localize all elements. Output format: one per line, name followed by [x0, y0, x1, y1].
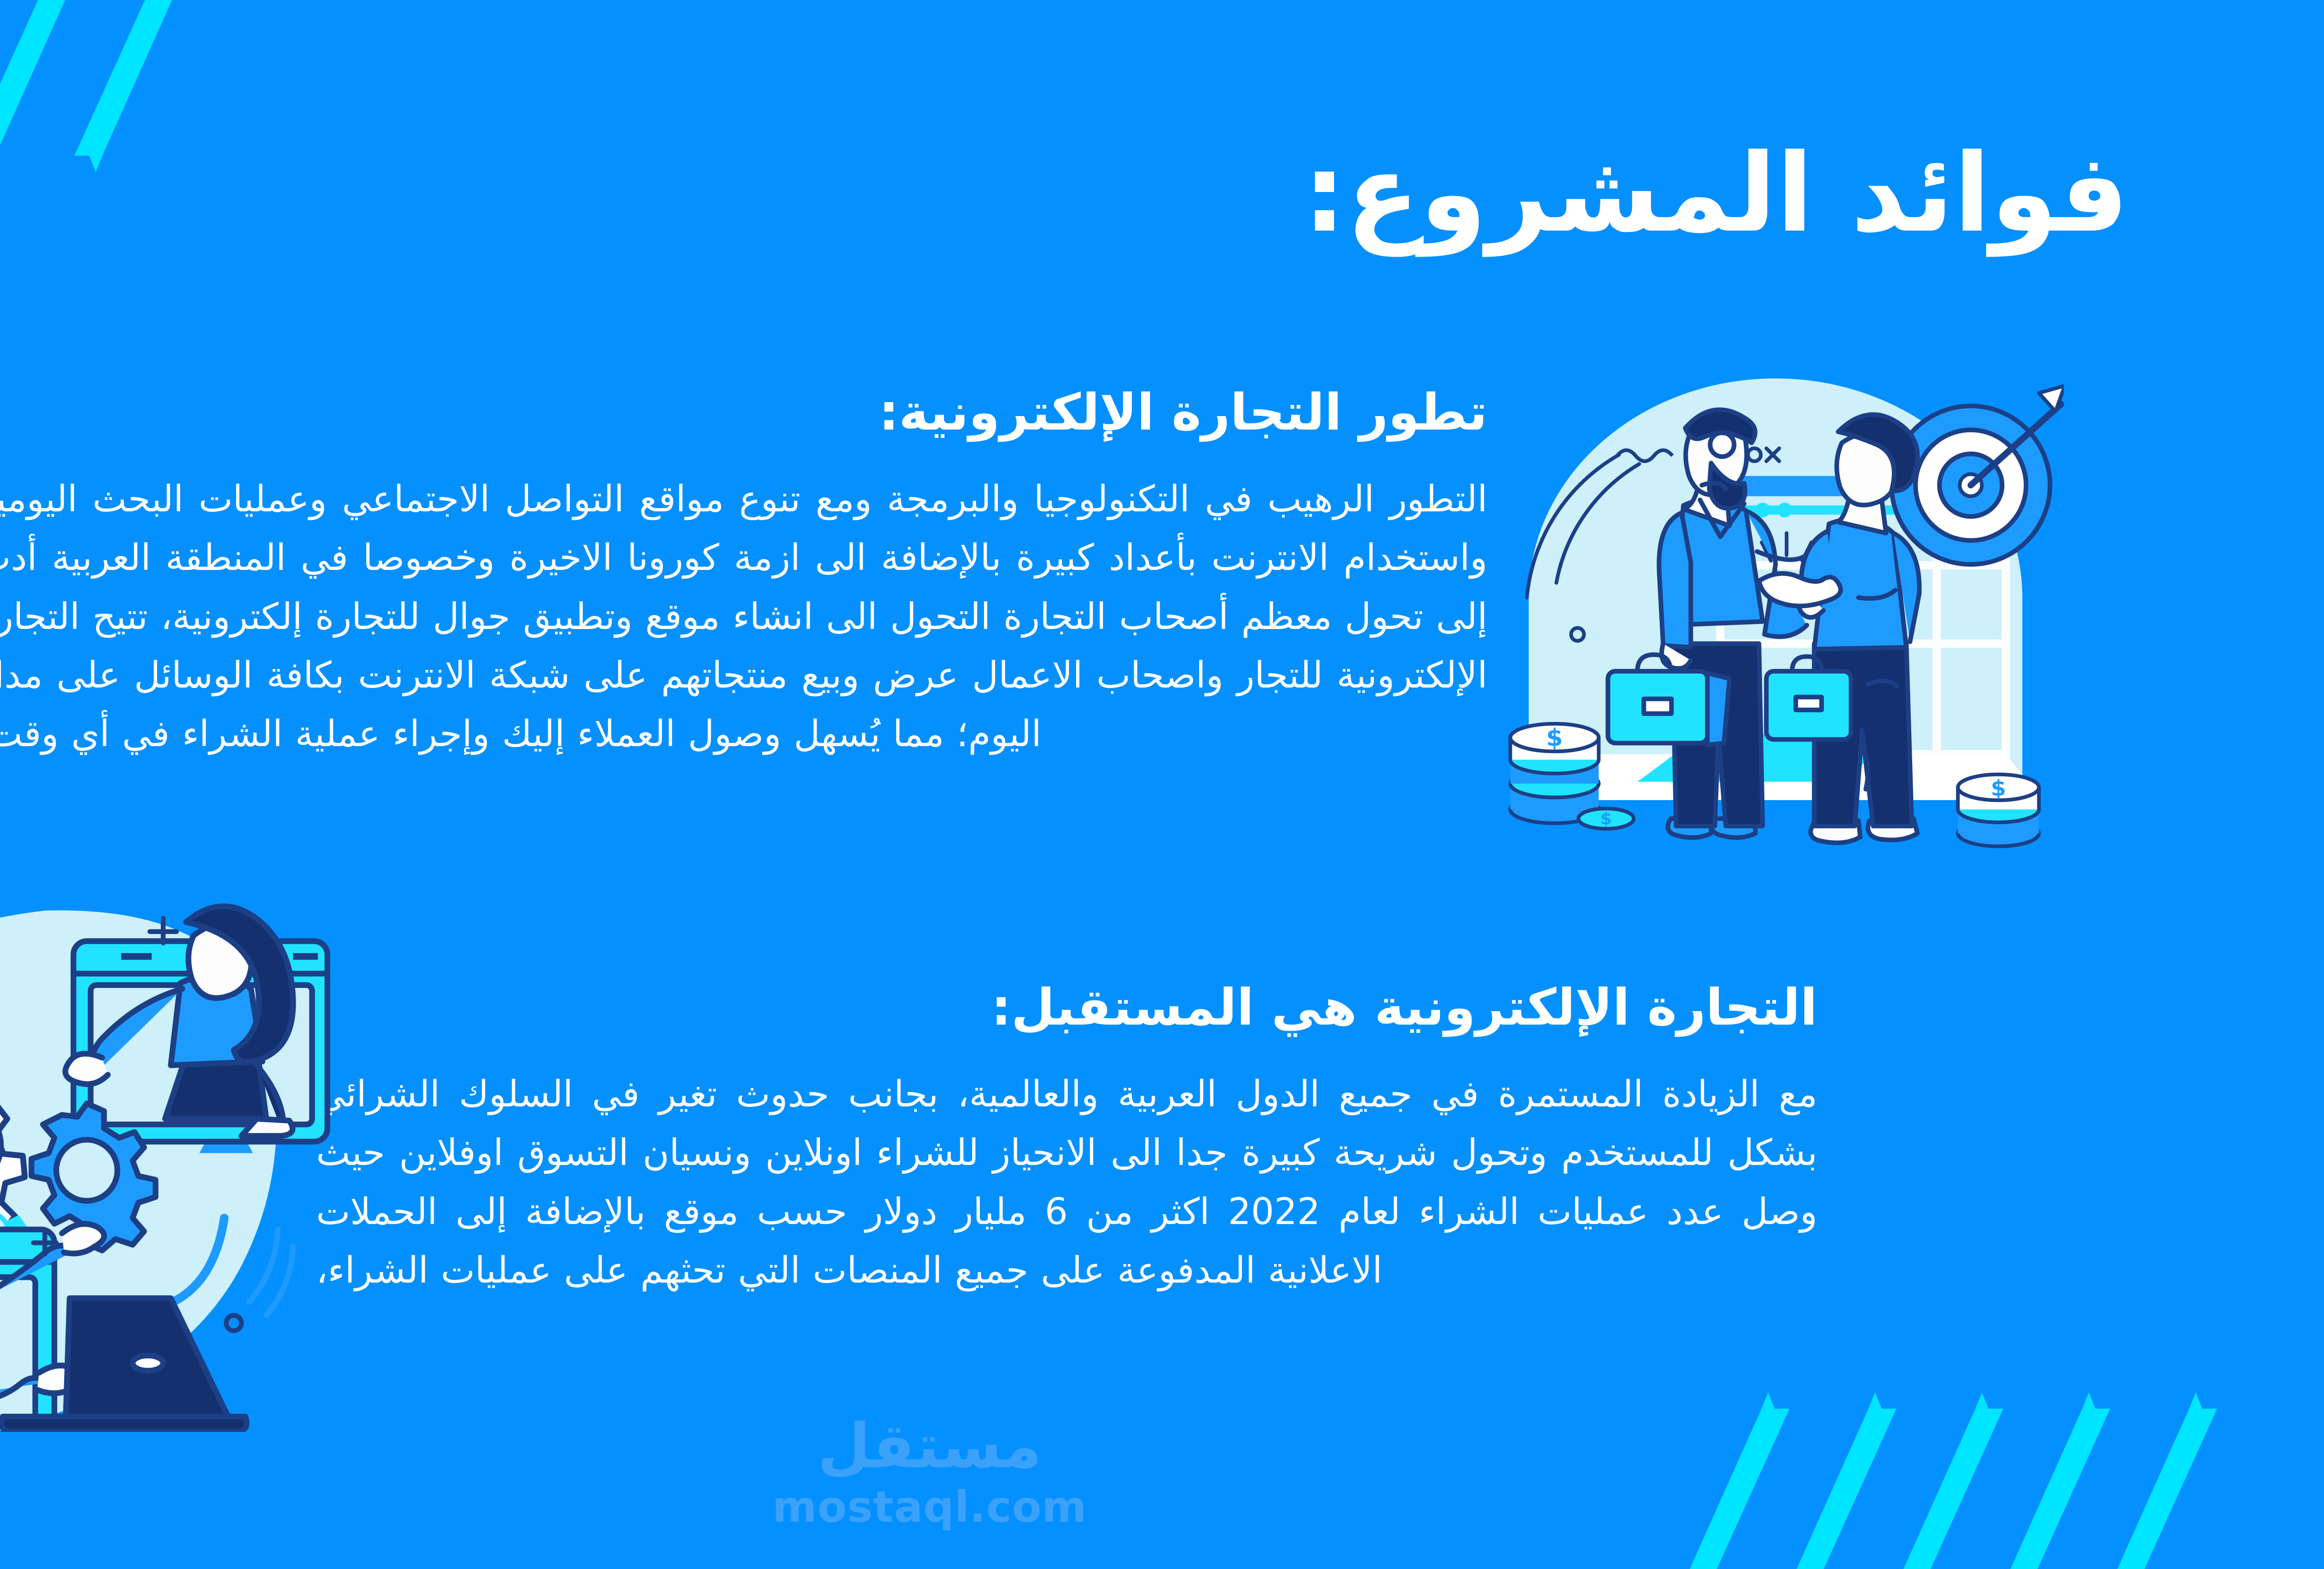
section-ecommerce-evolution: تطور التجارة الإلكترونية: التطور الرهيب … — [0, 381, 1487, 764]
section-body-2: مع الزيادة المستمرة في جميع الدول العربي… — [316, 1065, 1817, 1300]
watermark-domain: mostaql.com — [772, 1482, 1087, 1533]
gears-collaboration-illustration — [0, 897, 344, 1432]
slide-canvas: فوائد المشروع: تطور التجارة الإلكترونية:… — [0, 0, 2324, 1569]
section-heading-2: التجارة الإلكترونية هي المستقبل: — [316, 976, 1817, 1039]
watermark-arabic-logo: مستقل — [772, 1416, 1087, 1477]
svg-text:$: $ — [1600, 809, 1612, 828]
svg-text:$: $ — [1991, 775, 2006, 801]
decorative-stripes-bottom-right — [1557, 1383, 2324, 1569]
mostaql-watermark: مستقل mostaql.com — [772, 1416, 1087, 1533]
section-heading-1: تطور التجارة الإلكترونية: — [0, 381, 1487, 444]
decorative-stripes-top-left — [0, 0, 232, 191]
svg-text:$: $ — [1546, 724, 1563, 752]
section-ecommerce-future: التجارة الإلكترونية هي المستقبل: مع الزي… — [316, 976, 1817, 1300]
page-title: فوائد المشروع: — [270, 139, 2129, 247]
handshake-deal-illustration: $ $ $ — [1487, 367, 2064, 865]
section-body-1: التطور الرهيب في التكنولوجيا والبرمجة وم… — [0, 470, 1487, 764]
